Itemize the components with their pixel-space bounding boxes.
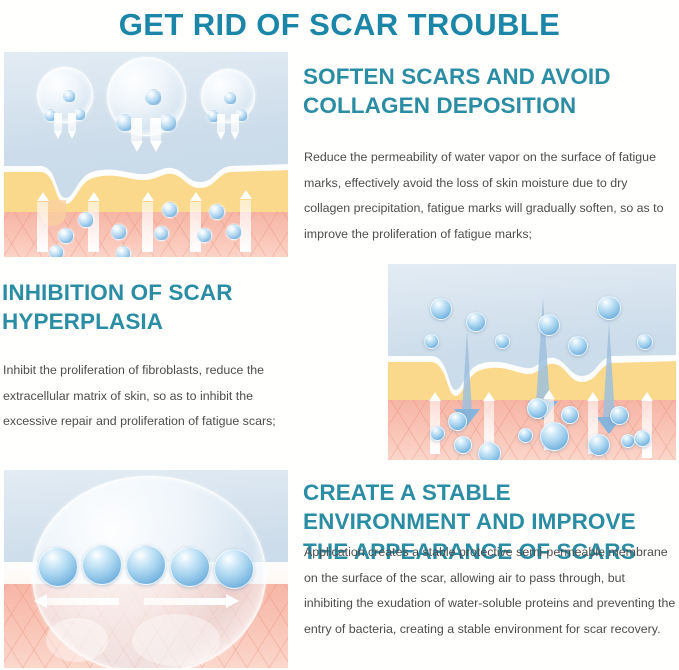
moisture-up-arrow bbox=[240, 190, 251, 252]
water-droplet bbox=[478, 442, 501, 460]
water-droplet bbox=[538, 314, 560, 336]
infographic-page: GET RID OF SCAR TROUBLE bbox=[0, 0, 679, 670]
vapor-down-arrow bbox=[150, 118, 161, 152]
water-droplet bbox=[209, 204, 225, 220]
illustration-vapor-barrier-bubbles bbox=[4, 52, 288, 257]
vapor-down-arrow bbox=[231, 114, 239, 140]
illustration-protective-membrane-dome bbox=[4, 470, 288, 668]
water-droplet bbox=[63, 90, 76, 103]
section-heading-soften-scars: SOFTEN SCARS AND AVOID COLLAGEN DEPOSITI… bbox=[303, 62, 679, 121]
water-droplet bbox=[226, 224, 242, 240]
water-droplet bbox=[621, 434, 635, 448]
moisture-up-arrow bbox=[190, 192, 201, 252]
water-droplet bbox=[197, 228, 212, 243]
water-droplet bbox=[170, 547, 210, 587]
water-droplet bbox=[466, 312, 486, 332]
water-droplet bbox=[540, 422, 569, 451]
water-droplet bbox=[154, 226, 169, 241]
moisture-up-arrow bbox=[430, 392, 440, 454]
water-droplet bbox=[634, 430, 651, 447]
water-droplet bbox=[637, 334, 653, 350]
water-droplet bbox=[145, 89, 162, 106]
section-body-stable-environment: Application creates a stable protective … bbox=[304, 540, 676, 643]
vapor-down-arrow bbox=[54, 113, 62, 139]
section-body-soften-scars: Reduce the permeability of water vapor o… bbox=[304, 145, 676, 248]
water-droplet bbox=[49, 245, 64, 257]
water-droplet bbox=[610, 406, 629, 425]
spread-arrow-right bbox=[144, 594, 239, 609]
page-title: GET RID OF SCAR TROUBLE bbox=[0, 0, 679, 50]
water-droplet bbox=[82, 545, 122, 585]
section-body-inhibition: Inhibit the proliferation of fibroblasts… bbox=[3, 358, 295, 435]
water-droplet bbox=[561, 406, 579, 424]
water-droplet bbox=[126, 545, 166, 585]
water-droplet bbox=[214, 549, 254, 589]
vapor-down-arrow bbox=[131, 118, 142, 152]
water-droplet bbox=[116, 246, 131, 257]
water-droplet bbox=[597, 296, 621, 320]
water-droplet bbox=[568, 336, 588, 356]
vapor-down-arrow bbox=[217, 114, 225, 140]
water-droplet bbox=[454, 436, 472, 454]
moisture-up-arrow bbox=[142, 192, 153, 252]
water-droplet bbox=[448, 412, 467, 431]
water-droplet bbox=[162, 202, 178, 218]
moisture-up-arrow bbox=[37, 192, 48, 252]
water-droplet bbox=[527, 398, 548, 419]
water-droplet bbox=[58, 228, 74, 244]
illustration-droplets-penetrating-skin bbox=[388, 264, 676, 460]
water-droplet bbox=[495, 334, 510, 349]
section-heading-inhibition: INHIBITION OF SCAR HYPERPLASIA bbox=[2, 278, 302, 337]
vapor-down-arrow bbox=[68, 113, 76, 139]
water-droplet bbox=[78, 212, 94, 228]
water-droplet bbox=[159, 114, 177, 132]
water-droplet bbox=[111, 224, 127, 240]
water-droplet bbox=[224, 92, 237, 105]
dome-reflection bbox=[132, 614, 220, 666]
spread-arrow-left bbox=[34, 594, 119, 609]
water-droplet bbox=[424, 334, 439, 349]
water-droplet bbox=[588, 434, 610, 456]
water-droplet bbox=[518, 428, 533, 443]
water-droplet bbox=[38, 547, 78, 587]
moisture-up-arrow bbox=[642, 392, 652, 458]
water-droplet bbox=[430, 426, 445, 441]
dome-reflection bbox=[46, 618, 108, 662]
water-droplet bbox=[430, 298, 452, 320]
